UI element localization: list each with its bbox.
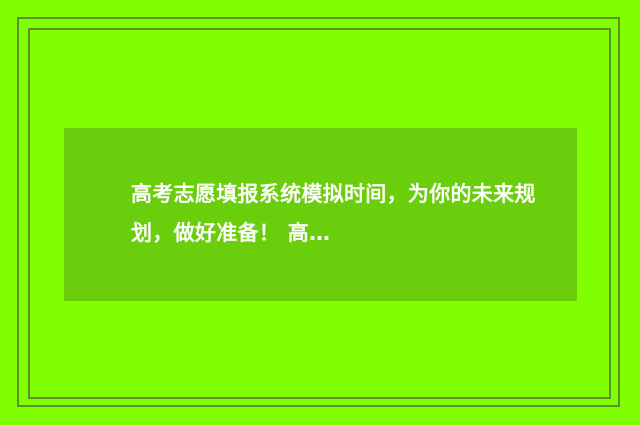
content-panel: 高考志愿填报系统模拟时间，为你的未来规划，做好准备！ 高… bbox=[64, 128, 577, 301]
page-canvas: 高考志愿填报系统模拟时间，为你的未来规划，做好准备！ 高… bbox=[0, 0, 640, 425]
headline-text: 高考志愿填报系统模拟时间，为你的未来规划，做好准备！ 高… bbox=[131, 175, 551, 253]
